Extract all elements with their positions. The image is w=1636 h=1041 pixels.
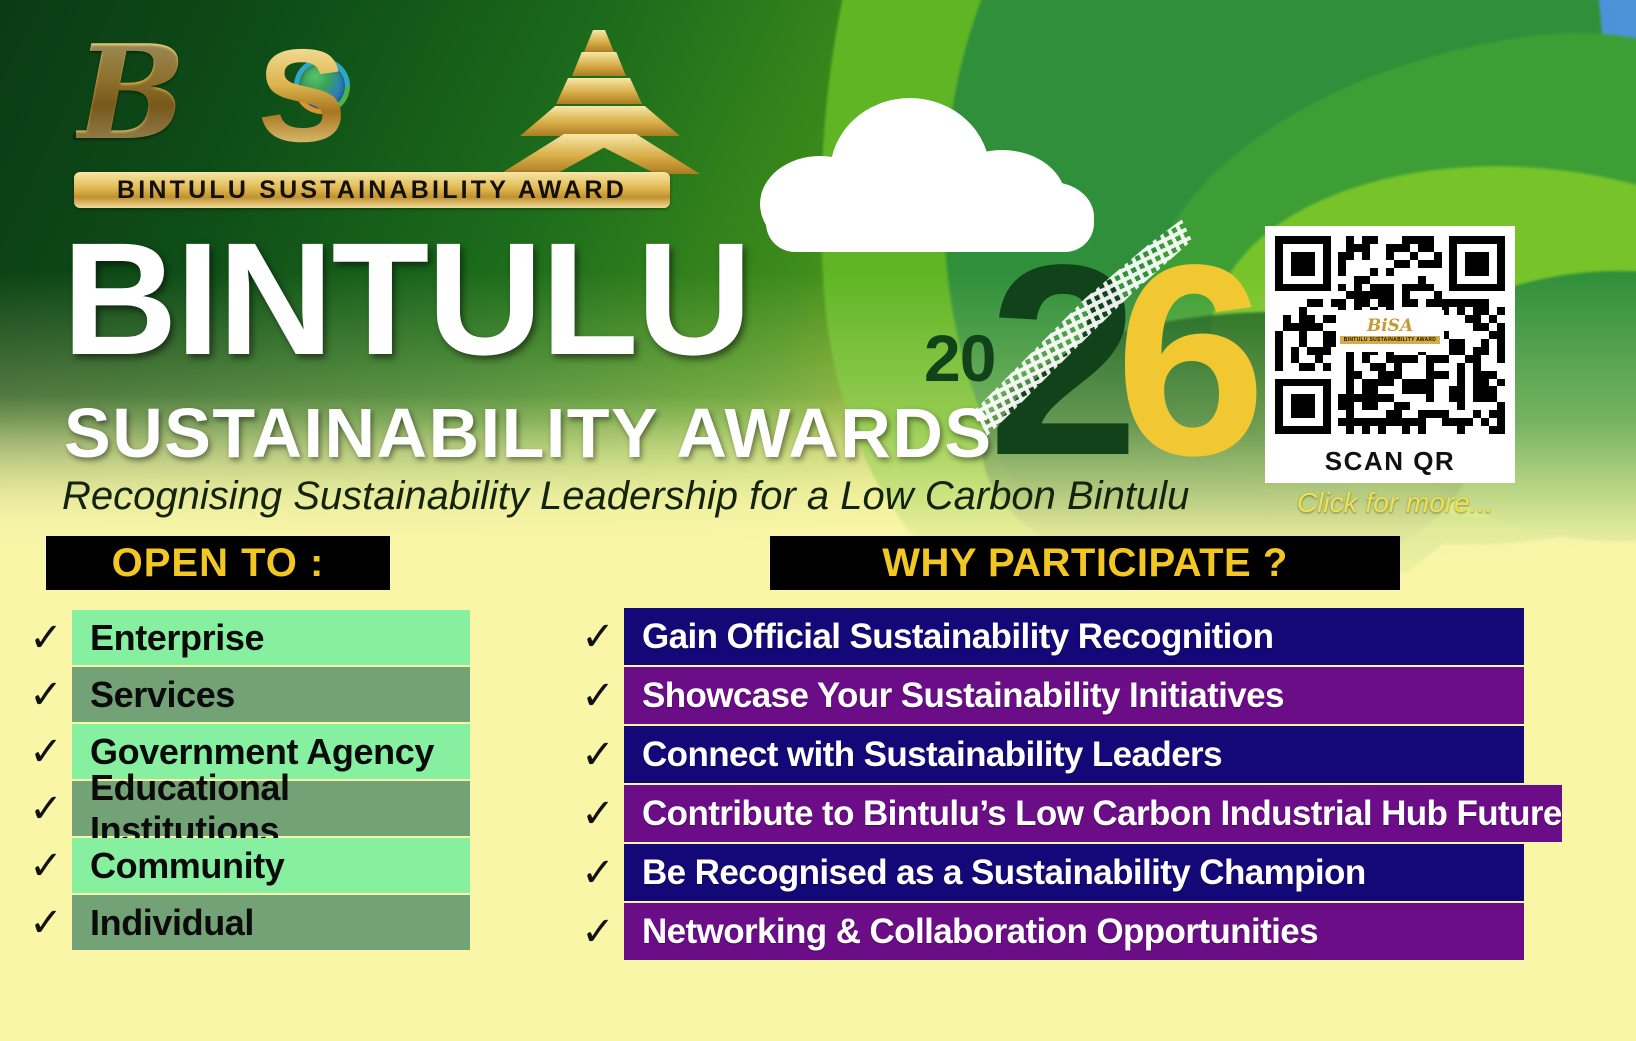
list-item[interactable]: ✓ Showcase Your Sustainability Initiativ… [572, 667, 1524, 724]
bisa-logo: B S BINTULU SUSTAINABILITY AWARD [70, 22, 690, 212]
check-icon: ✓ [572, 785, 624, 842]
list-item-label: Networking & Collaboration Opportunities [642, 912, 1318, 952]
list-item-pill: Be Recognised as a Sustainability Champi… [624, 844, 1524, 901]
qr-code[interactable]: BiSA BINTULU SUSTAINABILITY AWARD SCAN Q… [1265, 226, 1515, 483]
list-item-label: Services [90, 674, 235, 716]
list-item[interactable]: ✓ Enterprise [20, 610, 470, 665]
tower-icon [500, 26, 700, 172]
qr-caption[interactable]: Click for more... [1270, 487, 1520, 519]
why-participate-list: ✓ Gain Official Sustainability Recogniti… [572, 608, 1524, 962]
list-item-pill: Services [72, 667, 470, 722]
qr-embedded-logo: BiSA BINTULU SUSTAINABILITY AWARD [1336, 310, 1444, 352]
check-icon: ✓ [572, 726, 624, 783]
logo-banner: BINTULU SUSTAINABILITY AWARD [74, 172, 670, 208]
list-item[interactable]: ✓ Networking & Collaboration Opportuniti… [572, 903, 1524, 960]
open-to-header-label: OPEN TO : [112, 541, 325, 586]
list-item[interactable]: ✓ Services [20, 667, 470, 722]
open-to-list: ✓ Enterprise ✓ Services ✓ Government Age… [20, 610, 470, 952]
list-item-label: Be Recognised as a Sustainability Champi… [642, 853, 1366, 893]
year-graphic: 2 6 20 [910, 238, 1220, 498]
list-item-pill: Showcase Your Sustainability Initiatives [624, 667, 1524, 724]
list-item[interactable]: ✓ Educational Institutions [20, 781, 470, 836]
logo-banner-label: BINTULU SUSTAINABILITY AWARD [117, 176, 627, 205]
check-icon: ✓ [572, 608, 624, 665]
logo-letter-b: B [76, 28, 186, 158]
list-item-label: Gain Official Sustainability Recognition [642, 617, 1273, 657]
check-icon: ✓ [572, 903, 624, 960]
check-icon: ✓ [20, 838, 72, 893]
list-item[interactable]: ✓ Individual [20, 895, 470, 950]
list-item-pill: Contribute to Bintulu’s Low Carbon Indus… [624, 785, 1562, 842]
list-item[interactable]: ✓ Community [20, 838, 470, 893]
list-item-label: Enterprise [90, 617, 264, 659]
check-icon: ✓ [572, 667, 624, 724]
list-item-pill: Connect with Sustainability Leaders [624, 726, 1524, 783]
list-item[interactable]: ✓ Connect with Sustainability Leaders [572, 726, 1524, 783]
check-icon: ✓ [20, 781, 72, 836]
open-to-header: OPEN TO : [46, 536, 390, 590]
why-participate-header-label: WHY PARTICIPATE ? [882, 541, 1288, 586]
year-prefix: 20 [924, 320, 995, 396]
check-icon: ✓ [20, 895, 72, 950]
list-item-pill: Networking & Collaboration Opportunities [624, 903, 1524, 960]
why-participate-header: WHY PARTICIPATE ? [770, 536, 1400, 590]
check-icon: ✓ [20, 667, 72, 722]
check-icon: ✓ [572, 844, 624, 901]
list-item-pill: Gain Official Sustainability Recognition [624, 608, 1524, 665]
poster-root: B S BINTULU SUSTAINABILITY AWARD BINTULU… [0, 0, 1636, 1041]
qr-label: SCAN QR [1265, 446, 1515, 477]
page-subtitle: SUSTAINABILITY AWARDS [64, 398, 993, 468]
check-icon: ✓ [20, 610, 72, 665]
list-item-label: Showcase Your Sustainability Initiatives [642, 676, 1284, 716]
page-title: BINTULU [62, 224, 750, 374]
qr-embedded-logo-text: BiSA [1367, 318, 1413, 335]
bisa-logo-mark: B S [70, 22, 690, 167]
logo-letter-s: S [258, 30, 342, 162]
list-item[interactable]: ✓ Be Recognised as a Sustainability Cham… [572, 844, 1524, 901]
list-item-pill: Educational Institutions [72, 781, 470, 836]
list-item-label: Contribute to Bintulu’s Low Carbon Indus… [642, 794, 1562, 834]
list-item-label: Community [90, 845, 284, 887]
qr-embedded-logo-band: BINTULU SUSTAINABILITY AWARD [1340, 336, 1440, 344]
list-item[interactable]: ✓ Contribute to Bintulu’s Low Carbon Ind… [572, 785, 1524, 842]
list-item-label: Individual [90, 902, 254, 944]
list-item-pill: Individual [72, 895, 470, 950]
qr-code-canvas: BiSA BINTULU SUSTAINABILITY AWARD [1275, 236, 1505, 434]
list-item[interactable]: ✓ Gain Official Sustainability Recogniti… [572, 608, 1524, 665]
list-item-pill: Community [72, 838, 470, 893]
list-item-label: Connect with Sustainability Leaders [642, 735, 1222, 775]
check-icon: ✓ [20, 724, 72, 779]
cloud-icon [760, 98, 1090, 218]
list-item-pill: Enterprise [72, 610, 470, 665]
